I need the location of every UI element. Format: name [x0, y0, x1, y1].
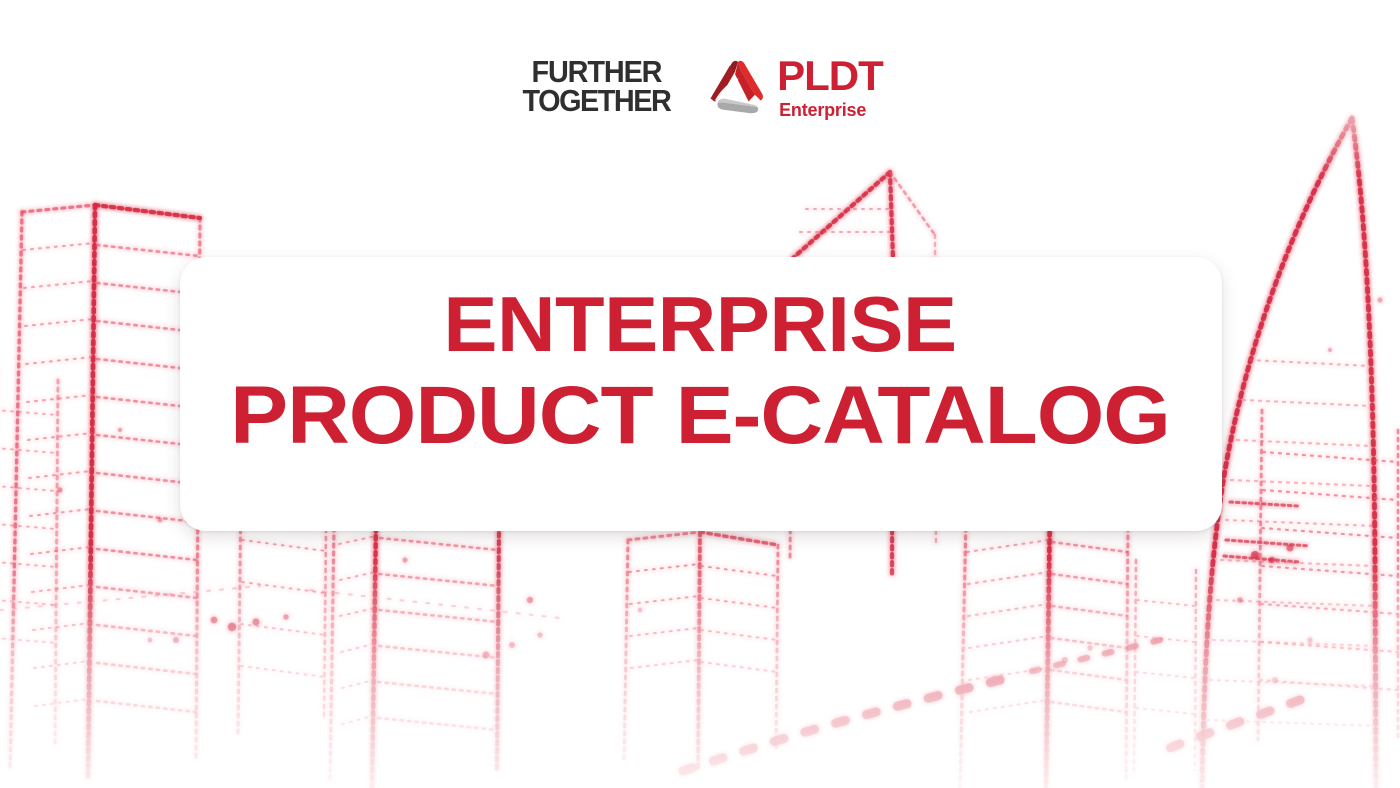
cover-slide: FURTHER TOGETHER PLDT Enterprise: [0, 0, 1400, 788]
pldt-wordmark-block: PLDT Enterprise: [777, 55, 883, 119]
building-right-slab: [1134, 560, 1196, 770]
pldt-enterprise-logo: PLDT Enterprise: [706, 55, 883, 119]
title-card: [180, 257, 1222, 531]
building-far-right: [1258, 410, 1398, 740]
header-logo-row: FURTHER TOGETHER PLDT Enterprise: [0, 55, 1400, 119]
building-curved-right: [1202, 118, 1376, 788]
dotted-road-path: [0, 586, 1300, 772]
pldt-enterprise-sublabel: Enterprise: [779, 101, 866, 119]
pldt-wordmark: PLDT: [777, 55, 883, 97]
building-center: [624, 532, 778, 770]
building-left-2: [0, 370, 58, 745]
further-together-logo: FURTHER TOGETHER: [523, 58, 671, 115]
bottom-fade-overlay: [0, 558, 1400, 788]
pldt-triangle-icon: [706, 58, 768, 116]
building-left-1: [10, 205, 200, 780]
further-together-line-2: TOGETHER: [523, 87, 671, 116]
building-right-mid: [960, 508, 1128, 788]
